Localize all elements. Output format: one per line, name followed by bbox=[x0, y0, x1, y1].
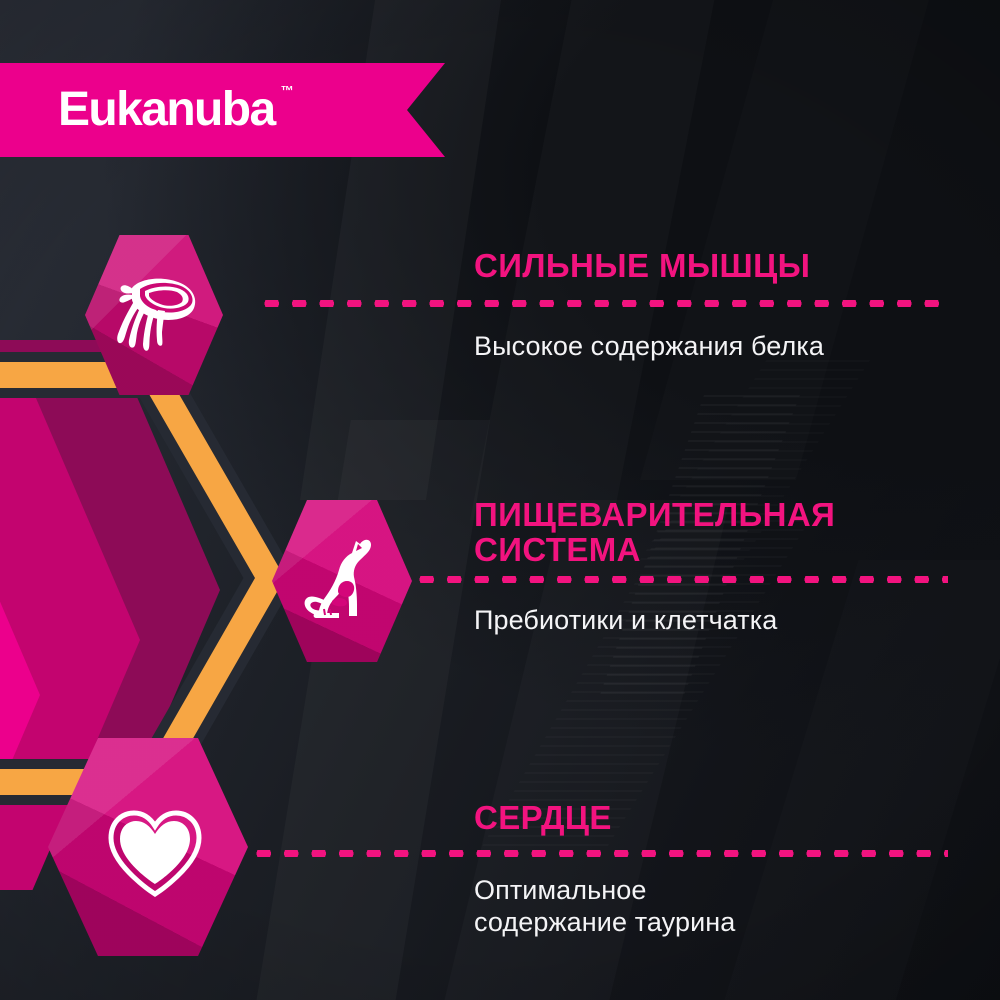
feature-block-digestion: ПИЩЕВАРИТЕЛЬНАЯ СИСТЕМА bbox=[474, 497, 954, 568]
feature-subtitle-wrap-muscles: Высокое содержания белка bbox=[474, 330, 974, 362]
brand-logo: Eukanuba™ bbox=[58, 86, 275, 134]
feature-title: СЕРДЦЕ bbox=[474, 800, 954, 835]
feature-block-heart: СЕРДЦЕ bbox=[474, 800, 954, 835]
feature-subtitle-wrap-heart: Оптимальное содержание таурина bbox=[474, 874, 974, 939]
feature-subtitle: Пребиотики и клетчатка bbox=[474, 604, 974, 636]
feature-divider-dots bbox=[413, 576, 948, 583]
feature-subtitle-wrap-digestion: Пребиотики и клетчатка bbox=[474, 604, 974, 636]
feature-divider-dots bbox=[250, 850, 948, 857]
product-benefits-infographic: Eukanuba™ bbox=[0, 0, 1000, 1000]
muscle-icon bbox=[106, 274, 202, 356]
feature-title: СИЛЬНЫЕ МЫШЦЫ bbox=[474, 248, 954, 283]
feature-divider-dots bbox=[258, 300, 948, 307]
heart-icon bbox=[105, 808, 205, 900]
feature-subtitle: Оптимальное содержание таурина bbox=[474, 874, 974, 939]
feature-title: ПИЩЕВАРИТЕЛЬНАЯ СИСТЕМА bbox=[474, 497, 954, 568]
brand-name: Eukanuba bbox=[58, 83, 275, 136]
brand-ribbon: Eukanuba™ bbox=[0, 63, 445, 157]
feature-subtitle: Высокое содержания белка bbox=[474, 330, 974, 362]
feature-block-muscles: СИЛЬНЫЕ МЫШЦЫ bbox=[474, 248, 954, 283]
cat-digestion-icon bbox=[294, 535, 390, 627]
trademark-symbol: ™ bbox=[281, 84, 294, 97]
